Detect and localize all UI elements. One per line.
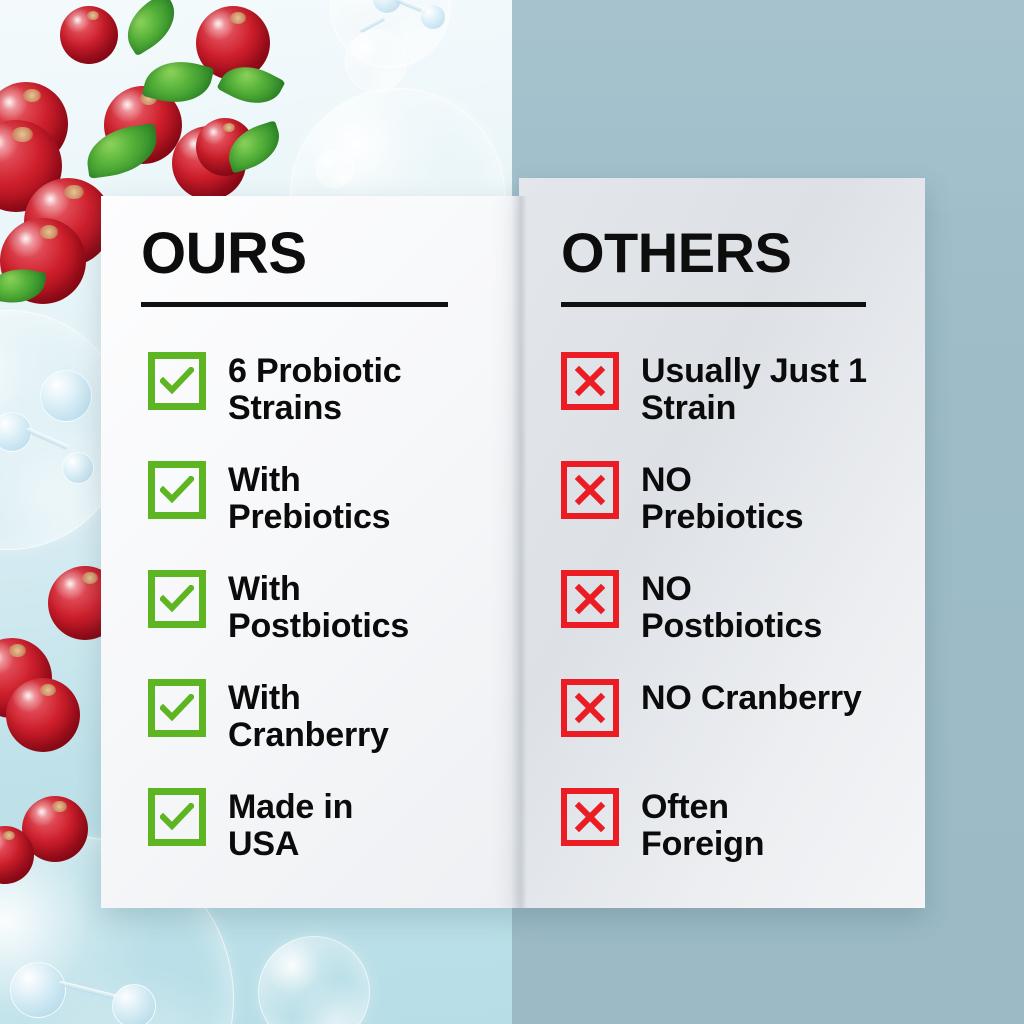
molecule-atom-icon	[420, 4, 446, 30]
check-icon	[148, 679, 206, 737]
comparison-infographic: OURS 6 Probiotic Strains With Prebiotics…	[0, 0, 1024, 1024]
cross-icon	[561, 570, 619, 628]
ours-row-4: With Cranberry	[148, 679, 463, 753]
ours-heading: OURS	[141, 225, 461, 283]
ours-row-5: Made in USA	[148, 788, 428, 862]
others-heading: OTHERS	[561, 225, 881, 281]
column-others: OTHERS	[561, 225, 881, 307]
others-row-3-label: NO Postbiotics	[641, 570, 881, 644]
check-icon	[148, 461, 206, 519]
others-row-5: Often Foreign	[561, 788, 851, 862]
check-icon	[148, 352, 206, 410]
bubble-icon	[316, 150, 354, 188]
cranberry-icon	[60, 6, 118, 64]
others-heading-rule	[561, 302, 866, 307]
ours-heading-rule	[141, 302, 448, 307]
ours-row-1-label: 6 Probiotic Strains	[228, 352, 458, 426]
others-row-1-label: Usually Just 1 Strain	[641, 352, 891, 426]
ours-row-3-label: With Postbiotics	[228, 570, 468, 644]
molecule-atom-icon	[10, 962, 66, 1018]
ours-row-5-label: Made in USA	[228, 788, 428, 862]
molecule-atom-icon	[62, 452, 94, 484]
ours-row-3: With Postbiotics	[148, 570, 468, 644]
ours-row-2: With Prebiotics	[148, 461, 458, 535]
others-row-2: NO Prebiotics	[561, 461, 861, 535]
others-row-4: NO Cranberry	[561, 679, 876, 737]
molecule-atom-icon	[112, 984, 156, 1024]
others-row-1: Usually Just 1 Strain	[561, 352, 891, 426]
column-ours: OURS	[141, 225, 461, 307]
panel-fold-shadow	[511, 196, 527, 908]
ours-row-4-label: With Cranberry	[228, 679, 463, 753]
others-row-2-label: NO Prebiotics	[641, 461, 861, 535]
cross-icon	[561, 788, 619, 846]
molecule-atom-icon	[40, 370, 92, 422]
others-row-3: NO Postbiotics	[561, 570, 881, 644]
cross-icon	[561, 461, 619, 519]
others-row-5-label: Often Foreign	[641, 788, 851, 862]
cranberry-icon	[6, 678, 80, 752]
bubble-icon	[345, 30, 407, 92]
check-icon	[148, 570, 206, 628]
cross-icon	[561, 679, 619, 737]
ours-row-1: 6 Probiotic Strains	[148, 352, 458, 426]
others-row-4-label: NO Cranberry	[641, 679, 876, 717]
cross-icon	[561, 352, 619, 410]
check-icon	[148, 788, 206, 846]
ours-row-2-label: With Prebiotics	[228, 461, 458, 535]
